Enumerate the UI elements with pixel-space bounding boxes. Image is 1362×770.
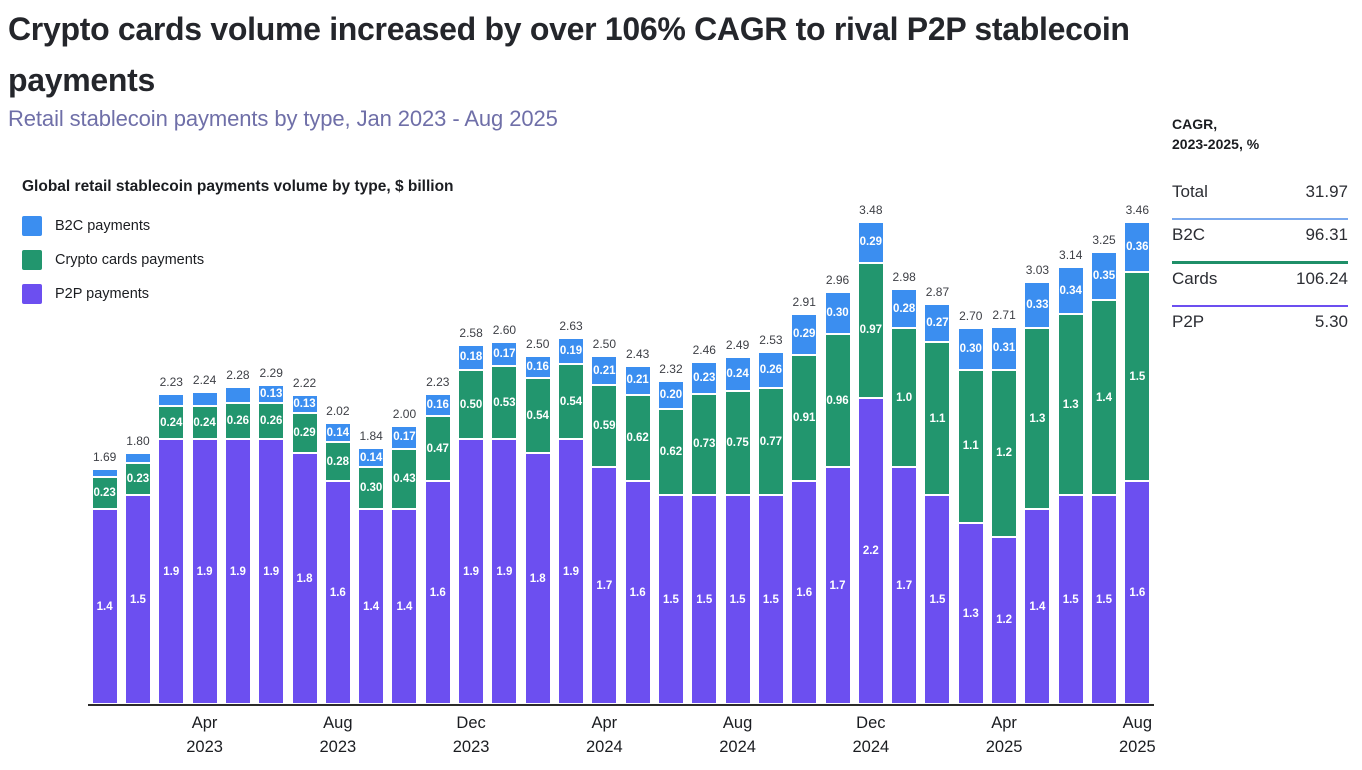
bar-segment-label: 0.20	[660, 389, 682, 401]
bar-segment-label: 0.54	[527, 410, 549, 422]
x-tick-month: Aug	[678, 712, 798, 736]
bar-segment-p2p[interactable]: 1.5	[658, 495, 684, 704]
bar-segment-cards[interactable]: 0.73	[691, 394, 717, 496]
bar-segment-label: 0.26	[760, 364, 782, 376]
bar-segment-label: 1.1	[963, 440, 979, 452]
bar-column[interactable]: 0.241.9	[158, 394, 184, 704]
bar-segment-cards[interactable]: 1.4	[1091, 300, 1117, 495]
bar-segment-cards[interactable]: 1.0	[891, 328, 917, 467]
bar-column[interactable]: 0.170.531.9	[491, 342, 517, 704]
bar-segment-b2c[interactable]: 0.21	[625, 366, 651, 395]
bar-total-label: 2.50	[515, 337, 561, 351]
bar-segment-b2c[interactable]: 0.24	[725, 357, 751, 390]
bar-segment-label: 1.9	[197, 566, 213, 578]
bar-segment-p2p[interactable]: 1.9	[458, 439, 484, 704]
bar-segment-b2c[interactable]: 0.16	[425, 394, 451, 416]
bar-column[interactable]: 0.300.961.7	[825, 292, 851, 704]
bar-total-label: 2.96	[815, 273, 861, 287]
bar-total-label: 2.53	[748, 333, 794, 347]
x-tick-month: Dec	[811, 712, 931, 736]
bar-column[interactable]: 0.311.21.2	[991, 327, 1017, 704]
bar-column[interactable]: 0.130.261.9	[258, 385, 284, 704]
bar-column[interactable]: 0.231.4	[92, 469, 118, 704]
bar-total-label: 2.63	[548, 319, 594, 333]
bar-segment-label: 0.13	[293, 398, 315, 410]
bar-segment-label: 0.35	[1093, 270, 1115, 282]
bar-segment-label: 0.34	[1060, 285, 1082, 297]
cagr-row-value: 5.30	[1315, 312, 1348, 332]
bar-segment-b2c[interactable]: 0.31	[991, 327, 1017, 370]
bar-segment-p2p[interactable]: 1.8	[525, 453, 551, 704]
bar-segment-b2c[interactable]: 0.16	[525, 356, 551, 378]
bar-segment-label: 1.9	[163, 566, 179, 578]
cagr-row-value: 31.97	[1305, 182, 1348, 202]
bar-segment-label: 0.30	[960, 343, 982, 355]
bar-total-label: 2.91	[781, 295, 827, 309]
bar-segment-label: 0.47	[427, 443, 449, 455]
bar-column[interactable]: 0.200.621.5	[658, 381, 684, 704]
bar-segment-b2c[interactable]: 0.29	[858, 222, 884, 262]
bar-column[interactable]: 0.361.51.6	[1124, 222, 1150, 704]
bar-segment-cards[interactable]: 0.23	[125, 463, 151, 495]
bar-segment-b2c[interactable]: 0.17	[391, 426, 417, 450]
bar-total-label: 2.60	[481, 323, 527, 337]
bar-segment-b2c[interactable]	[192, 392, 218, 406]
bar-segment-b2c[interactable]	[225, 387, 251, 404]
bar-column[interactable]: 0.231.5	[125, 453, 151, 704]
bar-segment-p2p[interactable]: 1.8	[292, 453, 318, 704]
bar-segment-b2c[interactable]	[158, 394, 184, 407]
bar-segment-label: 1.6	[330, 587, 346, 599]
bar-segment-label: 1.5	[1063, 594, 1079, 606]
bar-column[interactable]: 0.130.291.8	[292, 395, 318, 704]
bar-segment-p2p[interactable]: 1.6	[791, 481, 817, 704]
bar-segment-cards[interactable]: 0.24	[158, 406, 184, 439]
bar-segment-label: 0.21	[626, 374, 648, 386]
bar-segment-b2c[interactable]: 0.34	[1058, 267, 1084, 314]
bar-segment-label: 1.4	[97, 601, 113, 613]
bar-segment-label: 0.24	[726, 368, 748, 380]
bar-segment-label: 1.9	[463, 566, 479, 578]
bar-segment-cards[interactable]: 0.26	[225, 403, 251, 439]
bar-segment-label: 0.28	[327, 456, 349, 468]
chart-caption: Global retail stablecoin payments volume…	[22, 178, 454, 196]
bar-segment-cards[interactable]: 0.59	[591, 385, 617, 467]
bar-segment-cards[interactable]: 0.54	[525, 378, 551, 453]
bar-segment-label: 1.6	[430, 587, 446, 599]
bar-segment-label: 0.59	[593, 420, 615, 432]
bar-segment-cards[interactable]: 0.47	[425, 416, 451, 481]
bar-segment-label: 1.5	[1129, 371, 1145, 383]
bar-column[interactable]: 0.301.11.3	[958, 328, 984, 704]
bar-column[interactable]: 0.240.751.5	[725, 357, 751, 704]
bar-segment-label: 0.21	[593, 365, 615, 377]
bar-column[interactable]: 0.241.9	[192, 392, 218, 704]
bar-segment-label: 0.30	[826, 307, 848, 319]
bar-segment-cards[interactable]: 0.97	[858, 263, 884, 398]
x-axis-tick-label: Aug2023	[278, 712, 398, 760]
bar-segment-label: 0.17	[393, 431, 415, 443]
bar-segment-p2p[interactable]: 2.2	[858, 398, 884, 704]
bar-segment-b2c[interactable]: 0.14	[358, 448, 384, 467]
bar-total-label: 2.32	[648, 362, 694, 376]
bar-segment-p2p[interactable]: 1.9	[158, 439, 184, 704]
x-tick-year: 2025	[944, 736, 1064, 760]
x-axis-tick-label: Apr2023	[145, 712, 265, 760]
bar-segment-label: 1.9	[263, 566, 279, 578]
bar-segment-label: 0.30	[360, 482, 382, 494]
bar-segment-cards[interactable]: 0.54	[558, 364, 584, 439]
bar-segment-cards[interactable]: 0.53	[491, 366, 517, 440]
cagr-row-label: Total	[1172, 182, 1208, 202]
bar-segment-label: 0.23	[693, 372, 715, 384]
bar-segment-cards[interactable]: 0.50	[458, 370, 484, 440]
bar-segment-label: 0.16	[527, 361, 549, 373]
x-axis-line	[88, 704, 1154, 706]
bar-segment-label: 1.5	[929, 594, 945, 606]
bar-segment-b2c[interactable]: 0.26	[758, 352, 784, 388]
bar-total-label: 1.69	[82, 450, 128, 464]
bar-segment-p2p[interactable]: 1.9	[558, 439, 584, 704]
bar-column[interactable]: 0.341.31.5	[1058, 267, 1084, 704]
bar-segment-cards[interactable]: 1.2	[991, 370, 1017, 537]
bar-segment-label: 0.24	[193, 417, 215, 429]
bar-segment-cards[interactable]: 1.3	[1024, 328, 1050, 509]
bar-segment-label: 1.5	[763, 594, 779, 606]
x-tick-month: Aug	[278, 712, 398, 736]
bar-segment-label: 0.14	[360, 452, 382, 464]
bar-segment-label: 0.24	[160, 417, 182, 429]
bar-segment-cards[interactable]: 0.26	[258, 403, 284, 439]
bar-segment-p2p[interactable]: 1.5	[691, 495, 717, 704]
bar-segment-label: 0.91	[793, 412, 815, 424]
page-subtitle: Retail stablecoin payments by type, Jan …	[8, 106, 558, 132]
bar-segment-label: 1.8	[530, 573, 546, 585]
bar-segment-b2c[interactable]: 0.17	[491, 342, 517, 366]
bar-segment-p2p[interactable]: 1.9	[258, 439, 284, 704]
bar-segment-p2p[interactable]: 1.6	[625, 481, 651, 704]
bar-segment-p2p[interactable]: 1.9	[225, 439, 251, 704]
bar-segment-p2p[interactable]: 1.7	[825, 467, 851, 704]
bar-segment-label: 1.5	[130, 594, 146, 606]
bar-segment-p2p[interactable]: 1.6	[425, 481, 451, 704]
x-tick-year: 2024	[678, 736, 798, 760]
bar-total-label: 3.48	[848, 203, 894, 217]
bar-segment-label: 0.62	[660, 446, 682, 458]
cagr-row-total: Total31.97	[1172, 177, 1348, 218]
bar-segment-label: 1.6	[630, 587, 646, 599]
bar-segment-label: 0.31	[993, 342, 1015, 354]
bar-total-label: 2.43	[615, 347, 661, 361]
bar-segment-label: 1.9	[230, 566, 246, 578]
bar-segment-label: 0.18	[460, 351, 482, 363]
bar-segment-cards[interactable]: 1.5	[1124, 272, 1150, 481]
bar-segment-b2c[interactable]	[125, 453, 151, 463]
bar-column[interactable]: 0.331.31.4	[1024, 282, 1050, 704]
bar-segment-label: 1.2	[996, 614, 1012, 626]
bar-segment-p2p[interactable]: 1.4	[1024, 509, 1050, 704]
bar-segment-label: 1.1	[929, 413, 945, 425]
bar-segment-label: 0.73	[693, 438, 715, 450]
bar-segment-b2c[interactable]: 0.28	[891, 289, 917, 328]
bar-column[interactable]: 0.160.471.6	[425, 394, 451, 704]
bar-segment-label: 1.5	[730, 594, 746, 606]
bar-segment-label: 1.9	[496, 566, 512, 578]
bar-segment-cards[interactable]: 1.1	[958, 370, 984, 523]
bar-segment-cards[interactable]: 0.77	[758, 388, 784, 495]
bar-total-label: 2.02	[315, 404, 361, 418]
cagr-title-line1: CAGR,	[1172, 114, 1348, 134]
bar-total-label: 2.71	[981, 308, 1027, 322]
bar-segment-label: 0.13	[260, 388, 282, 400]
bar-segment-b2c[interactable]: 0.13	[292, 395, 318, 413]
bar-column[interactable]: 0.271.11.5	[924, 304, 950, 704]
bar-segment-label: 0.53	[493, 397, 515, 409]
bar-segment-label: 0.77	[760, 436, 782, 448]
bar-segment-label: 0.50	[460, 399, 482, 411]
bar-total-label: 3.46	[1114, 203, 1160, 217]
bar-segment-label: 1.4	[1096, 392, 1112, 404]
bar-segment-b2c[interactable]	[92, 469, 118, 477]
x-tick-year: 2025	[1077, 736, 1197, 760]
bar-segment-p2p[interactable]: 1.9	[192, 439, 218, 704]
bar-segment-label: 1.4	[1029, 601, 1045, 613]
bar-column[interactable]: 0.170.431.4	[391, 426, 417, 704]
bar-segment-label: 0.28	[893, 303, 915, 315]
bar-segment-label: 0.29	[860, 236, 882, 248]
bar-segment-cards[interactable]: 0.24	[192, 406, 218, 439]
bar-segment-label: 0.26	[227, 415, 249, 427]
bar-segment-b2c[interactable]: 0.29	[791, 314, 817, 354]
bar-total-label: 1.84	[348, 429, 394, 443]
bar-segment-label: 0.33	[1026, 299, 1048, 311]
x-tick-year: 2024	[811, 736, 931, 760]
x-tick-year: 2024	[544, 736, 664, 760]
x-axis-tick-label: Aug2025	[1077, 712, 1197, 760]
bar-segment-label: 0.75	[726, 437, 748, 449]
x-tick-year: 2023	[145, 736, 265, 760]
x-axis-tick-label: Aug2024	[678, 712, 798, 760]
bar-segment-p2p[interactable]: 1.6	[1124, 481, 1150, 704]
cagr-row-label: B2C	[1172, 225, 1205, 245]
bar-segment-p2p[interactable]: 1.5	[725, 495, 751, 704]
bar-segment-label: 0.26	[260, 415, 282, 427]
bar-total-label: 2.22	[282, 376, 328, 390]
bar-segment-cards[interactable]: 0.96	[825, 334, 851, 468]
bar-segment-label: 1.4	[363, 601, 379, 613]
bar-segment-cards[interactable]: 0.43	[391, 449, 417, 509]
x-tick-month: Aug	[1077, 712, 1197, 736]
bar-segment-cards[interactable]: 0.75	[725, 391, 751, 495]
bar-segment-p2p[interactable]: 1.5	[758, 495, 784, 704]
bar-segment-p2p[interactable]: 1.5	[924, 495, 950, 704]
bar-segment-p2p[interactable]: 1.5	[1058, 495, 1084, 704]
bar-segment-p2p[interactable]: 1.5	[125, 495, 151, 704]
cagr-row-cards: Cards106.24	[1172, 264, 1348, 305]
bar-column[interactable]: 0.210.621.6	[625, 366, 651, 704]
bar-column[interactable]: 0.160.541.8	[525, 356, 551, 704]
x-tick-year: 2023	[411, 736, 531, 760]
bar-segment-label: 1.3	[1029, 413, 1045, 425]
bar-segment-label: 1.3	[1063, 399, 1079, 411]
bar-total-label: 2.98	[881, 270, 927, 284]
bar-column[interactable]: 0.351.41.5	[1091, 252, 1117, 704]
bar-segment-b2c[interactable]: 0.20	[658, 381, 684, 409]
bar-column[interactable]: 0.261.9	[225, 387, 251, 704]
bar-segment-b2c[interactable]: 0.13	[258, 385, 284, 403]
legend-swatch-p2p	[22, 284, 42, 304]
cagr-row-label: Cards	[1172, 269, 1217, 289]
bar-segment-b2c[interactable]: 0.19	[558, 338, 584, 364]
bar-segment-label: 1.9	[563, 566, 579, 578]
bar-segment-label: 1.6	[1129, 587, 1145, 599]
bar-segment-label: 0.17	[493, 348, 515, 360]
bar-segment-label: 1.5	[1096, 594, 1112, 606]
bar-total-label: 3.25	[1081, 233, 1127, 247]
x-axis-tick-label: Apr2024	[544, 712, 664, 760]
cagr-title-line2: 2023-2025, %	[1172, 134, 1348, 154]
bar-segment-label: 1.7	[896, 580, 912, 592]
bar-segment-b2c[interactable]: 0.18	[458, 345, 484, 370]
bar-segment-b2c[interactable]: 0.30	[958, 328, 984, 370]
bar-segment-p2p[interactable]: 1.7	[591, 467, 617, 704]
cagr-row-value: 106.24	[1296, 269, 1348, 289]
bar-segment-label: 0.54	[560, 396, 582, 408]
bar-column[interactable]: 0.290.911.6	[791, 314, 817, 704]
page-title: Crypto cards volume increased by over 10…	[8, 4, 1188, 106]
bar-segment-p2p[interactable]: 1.6	[325, 481, 351, 704]
bar-total-label: 3.14	[1048, 248, 1094, 262]
bar-segment-p2p[interactable]: 1.4	[391, 509, 417, 704]
bar-segment-label: 1.5	[696, 594, 712, 606]
bar-segment-b2c[interactable]: 0.35	[1091, 252, 1117, 301]
bar-column[interactable]: 0.190.541.9	[558, 338, 584, 704]
chart-page: Crypto cards volume increased by over 10…	[0, 0, 1362, 770]
bar-column[interactable]: 0.230.731.5	[691, 362, 717, 704]
bar-segment-cards[interactable]: 0.23	[92, 477, 118, 509]
bar-segment-cards[interactable]: 0.91	[791, 355, 817, 482]
bar-segment-p2p[interactable]: 1.3	[958, 523, 984, 704]
x-tick-month: Apr	[944, 712, 1064, 736]
bar-segment-b2c[interactable]: 0.14	[325, 423, 351, 442]
x-axis-tick-label: Dec2023	[411, 712, 531, 760]
bar-total-label: 3.03	[1014, 263, 1060, 277]
bar-segment-cards[interactable]: 0.28	[325, 442, 351, 481]
cagr-row-p2p: P2P5.30	[1172, 307, 1348, 348]
bar-segment-label: 0.27	[926, 317, 948, 329]
x-tick-year: 2023	[278, 736, 398, 760]
bar-total-label: 2.23	[415, 375, 461, 389]
cagr-panel-title: CAGR, 2023-2025, %	[1172, 114, 1348, 155]
bar-segment-cards[interactable]: 0.62	[658, 409, 684, 495]
bar-segment-label: 1.3	[963, 608, 979, 620]
bar-segment-label: 1.4	[396, 601, 412, 613]
cagr-row-label: P2P	[1172, 312, 1204, 332]
bar-segment-p2p[interactable]: 1.5	[1091, 495, 1117, 704]
x-tick-month: Dec	[411, 712, 531, 736]
bar-column[interactable]: 0.180.501.9	[458, 345, 484, 704]
bar-segment-cards[interactable]: 0.62	[625, 395, 651, 481]
bar-column[interactable]: 0.140.301.4	[358, 448, 384, 704]
x-axis-tick-label: Dec2024	[811, 712, 931, 760]
bar-total-label: 1.80	[115, 434, 161, 448]
bar-segment-cards[interactable]: 1.1	[924, 342, 950, 495]
bar-segment-label: 0.43	[393, 473, 415, 485]
bar-segment-label: 1.7	[596, 580, 612, 592]
bar-segment-p2p[interactable]: 1.7	[891, 467, 917, 704]
bar-column[interactable]: 0.281.01.7	[891, 289, 917, 704]
bar-segment-p2p[interactable]: 1.2	[991, 537, 1017, 704]
bar-segment-label: 0.29	[293, 427, 315, 439]
cagr-panel: CAGR, 2023-2025, % Total31.97B2C96.31Car…	[1172, 114, 1348, 348]
bar-column[interactable]: 0.140.281.6	[325, 423, 351, 704]
bar-segment-cards[interactable]: 0.29	[292, 413, 318, 453]
bar-segment-label: 1.7	[830, 580, 846, 592]
bar-segment-label: 0.14	[327, 427, 349, 439]
x-tick-month: Apr	[145, 712, 265, 736]
bar-segment-p2p[interactable]: 1.4	[92, 509, 118, 704]
bar-segment-label: 0.23	[127, 473, 149, 485]
bar-segment-label: 2.2	[863, 545, 879, 557]
legend-swatch-cards	[22, 250, 42, 270]
bar-segment-label: 0.96	[826, 395, 848, 407]
bar-segment-b2c[interactable]: 0.23	[691, 362, 717, 394]
bar-plot-area: 0.231.41.690.231.51.800.241.92.230.241.9…	[88, 200, 1154, 704]
legend-swatch-b2c	[22, 216, 42, 236]
bar-segment-label: 1.6	[796, 587, 812, 599]
bar-column[interactable]: 0.260.771.5	[758, 352, 784, 704]
bar-segment-cards[interactable]: 0.30	[358, 467, 384, 509]
bar-segment-label: 0.29	[793, 328, 815, 340]
bar-segment-label: 0.97	[860, 324, 882, 336]
bar-segment-b2c[interactable]: 0.36	[1124, 222, 1150, 272]
bar-total-label: 2.00	[381, 407, 427, 421]
bar-segment-label: 0.19	[560, 345, 582, 357]
bar-segment-label: 1.0	[896, 392, 912, 404]
bar-segment-label: 0.23	[93, 487, 115, 499]
cagr-row-b2c: B2C96.31	[1172, 220, 1348, 261]
bar-segment-b2c[interactable]: 0.33	[1024, 282, 1050, 328]
bar-segment-cards[interactable]: 1.3	[1058, 314, 1084, 495]
x-tick-month: Apr	[544, 712, 664, 736]
bar-segment-label: 1.2	[996, 447, 1012, 459]
bar-segment-label: 0.62	[626, 432, 648, 444]
cagr-row-value: 96.31	[1305, 225, 1348, 245]
bar-segment-label: 0.16	[427, 399, 449, 411]
x-axis-tick-label: Apr2025	[944, 712, 1064, 760]
bar-segment-label: 1.8	[297, 573, 313, 585]
bar-segment-b2c[interactable]: 0.30	[825, 292, 851, 334]
bar-segment-b2c[interactable]: 0.21	[591, 356, 617, 385]
bar-segment-p2p[interactable]: 1.4	[358, 509, 384, 704]
bar-segment-b2c[interactable]: 0.27	[924, 304, 950, 342]
bar-column[interactable]: 0.290.972.2	[858, 222, 884, 704]
bar-segment-label: 1.5	[663, 594, 679, 606]
bar-segment-label: 0.36	[1126, 241, 1148, 253]
bar-total-label: 2.87	[914, 285, 960, 299]
bar-segment-p2p[interactable]: 1.9	[491, 439, 517, 704]
bar-column[interactable]: 0.210.591.7	[591, 356, 617, 704]
